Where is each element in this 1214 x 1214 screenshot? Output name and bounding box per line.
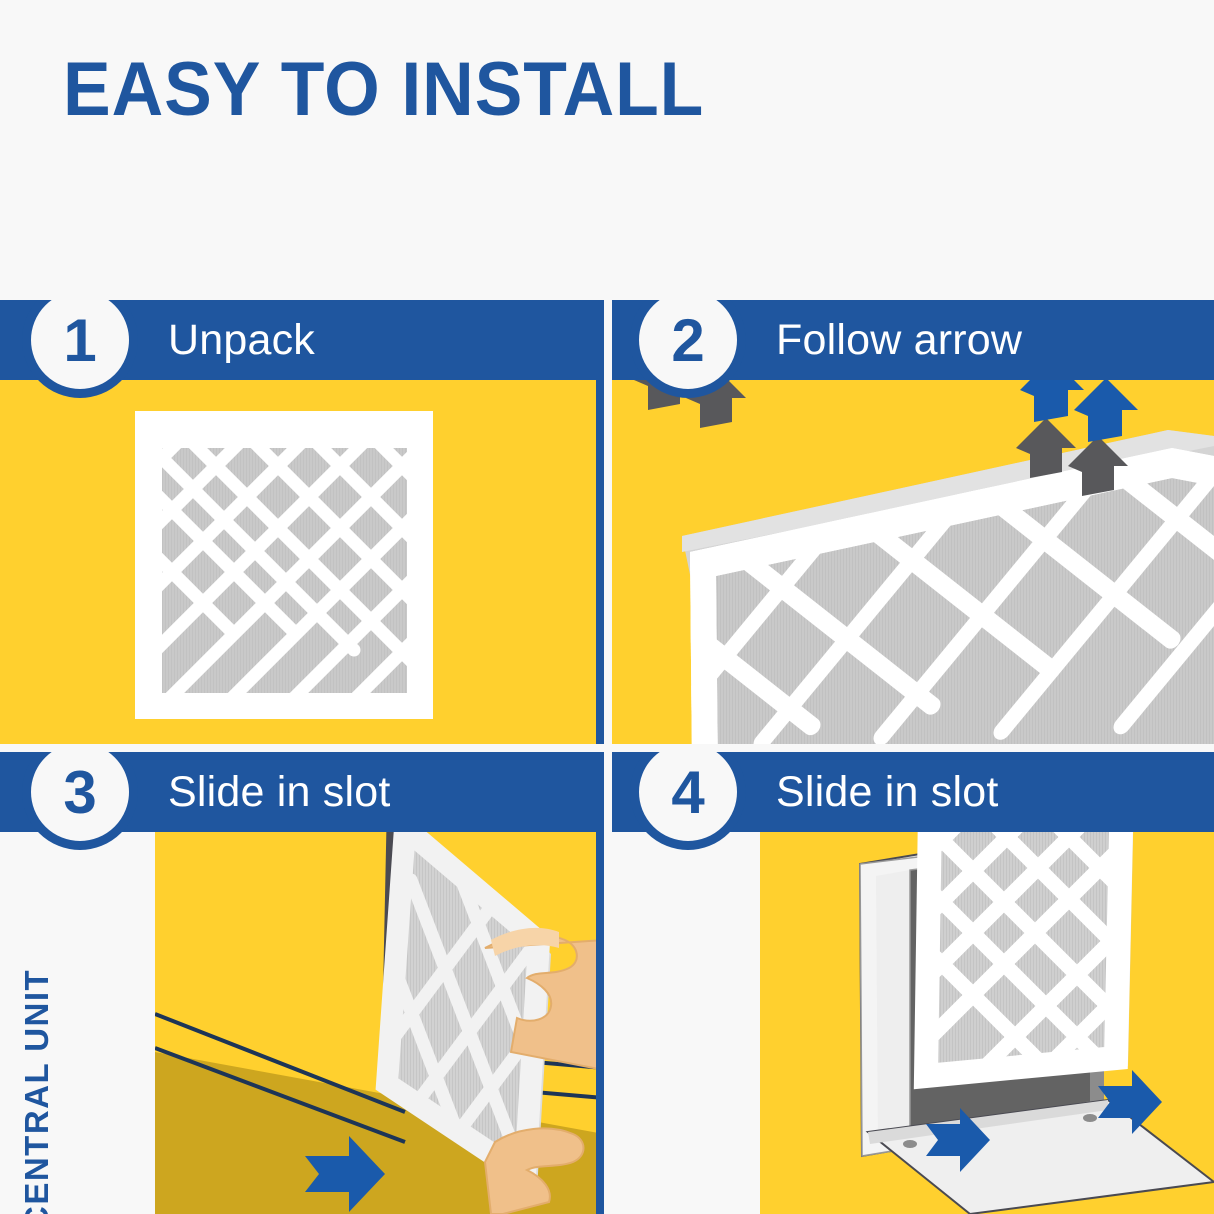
step-panel-4: Slide in slot 4 WALL UNIT xyxy=(612,752,1214,1214)
step-2-label: Follow arrow xyxy=(776,316,1022,365)
unit-label-central: CENTRAL UNIT xyxy=(18,969,56,1214)
step-panel-2: Follow arrow 2 xyxy=(612,300,1214,744)
step-4-label: Slide in slot xyxy=(776,768,999,817)
step-panel-1: Unpack 1 xyxy=(0,300,604,744)
page-title: EASY TO INSTALL xyxy=(63,52,704,128)
step-4-badge: 4 xyxy=(630,752,746,850)
step-panel-3: Slide in slot 3 CENTRAL UNIT xyxy=(0,752,604,1214)
step-3-label: Slide in slot xyxy=(168,768,391,817)
step-1-label: Unpack xyxy=(168,316,315,365)
step-3-badge: 3 xyxy=(22,752,138,850)
